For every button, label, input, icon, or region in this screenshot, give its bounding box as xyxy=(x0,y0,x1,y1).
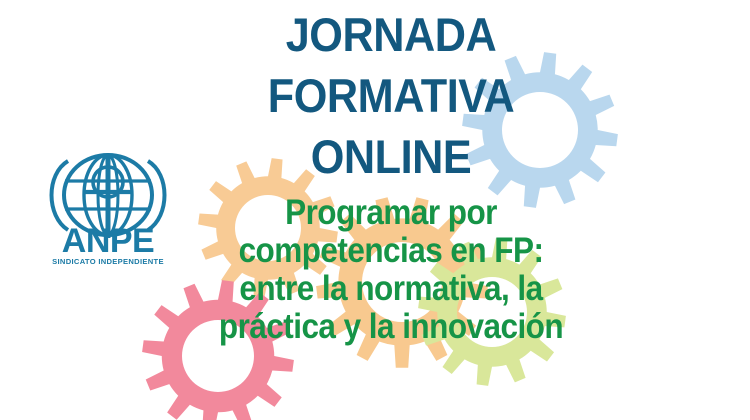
page-title: JORNADA FORMATIVA ONLINE xyxy=(188,4,594,187)
page-subtitle: Programar por competencias en FP: entre … xyxy=(188,194,594,346)
poster-canvas: ANPE SINDICATO INDEPENDIENTE JORNADA FOR… xyxy=(0,0,750,420)
title-line-3: ONLINE xyxy=(204,126,578,187)
poster-text-block: JORNADA FORMATIVA ONLINE Programar por c… xyxy=(188,4,594,346)
anpe-tagline: SINDICATO INDEPENDIENTE xyxy=(52,257,164,266)
anpe-wordmark: ANPE xyxy=(62,222,154,260)
subtitle-line-2: competencias en FP: xyxy=(208,232,573,270)
subtitle-line-1: Programar por xyxy=(208,194,573,232)
title-line-2: FORMATIVA xyxy=(204,65,578,126)
subtitle-line-4: práctica y la innovación xyxy=(208,308,573,346)
subtitle-line-3: entre la normativa, la xyxy=(208,270,573,308)
anpe-logo: ANPE SINDICATO INDEPENDIENTE xyxy=(38,148,178,270)
title-line-1: JORNADA xyxy=(204,4,578,65)
